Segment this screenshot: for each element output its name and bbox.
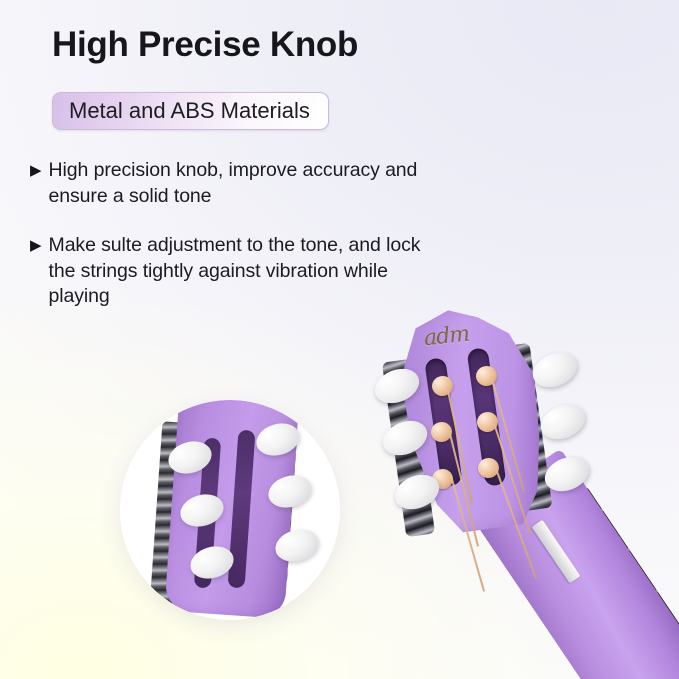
page-title: High Precise Knob — [52, 25, 358, 65]
status-badge: Metal and ABS Materials — [52, 92, 329, 130]
triangle-bullet-icon: ▶ — [30, 158, 42, 183]
product-feature-image: High Precise Knob Metal and ABS Material… — [0, 0, 679, 679]
feature-text: High precision knob, improve accuracy an… — [49, 158, 450, 209]
list-item: ▶ High precision knob, improve accuracy … — [30, 158, 450, 209]
list-item: ▶ Make sulte adjustment to the tone, and… — [30, 233, 450, 310]
badge-label: Metal and ABS Materials — [69, 98, 310, 124]
brand-logo: adm — [423, 322, 470, 352]
inset-clip — [120, 400, 340, 620]
feature-text: Make sulte adjustment to the tone, and l… — [49, 233, 450, 310]
tuner-knob — [536, 399, 591, 446]
tuner-closeup-inset — [120, 400, 340, 620]
triangle-bullet-icon: ▶ — [30, 233, 42, 258]
tuner-knob — [528, 347, 583, 394]
guitar-headstock-photo: adm — [372, 300, 679, 679]
